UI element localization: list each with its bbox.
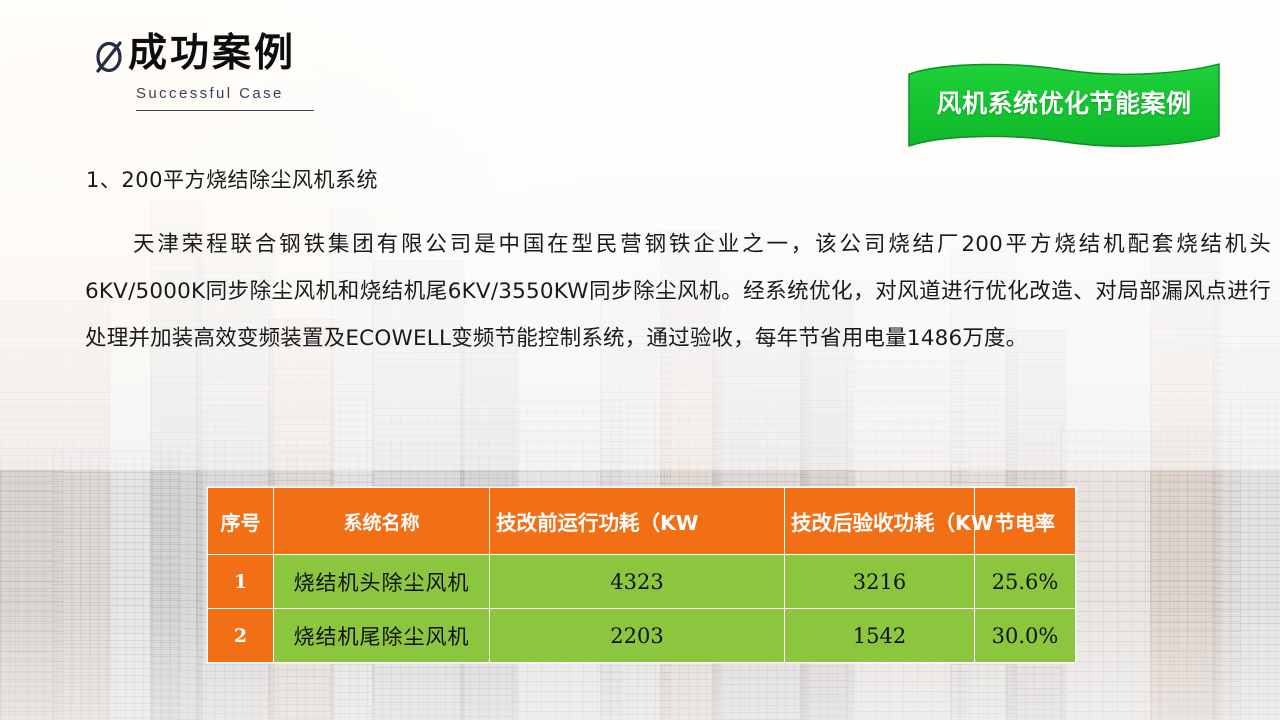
title-row: 成功案例 bbox=[92, 34, 512, 73]
slide-title-block: 成功案例 Successful Case bbox=[92, 34, 512, 111]
title-underline-rule bbox=[136, 110, 314, 111]
cell-system-name: 烧结机头除尘风机 bbox=[274, 555, 490, 609]
body-paragraph: 天津荣程联合钢铁集团有限公司是中国在型民营钢铁企业之一，该公司烧结厂200平方烧… bbox=[85, 221, 1271, 362]
cell-power-before: 4323 bbox=[490, 555, 785, 609]
column-header-system-name: 系统名称 bbox=[274, 488, 490, 555]
column-header-power-after: 技改后验收功耗（KW bbox=[785, 488, 975, 555]
page-title: 成功案例 bbox=[128, 34, 296, 73]
cell-index: 2 bbox=[208, 609, 274, 663]
cell-saving-rate: 25.6% bbox=[975, 555, 1076, 609]
cell-power-after: 3216 bbox=[785, 555, 975, 609]
section-heading: 1、200平方烧结除尘风机系统 bbox=[86, 168, 1206, 193]
body-copy: 1、200平方烧结除尘风机系统 天津荣程联合钢铁集团有限公司是中国在型民营钢铁企… bbox=[86, 168, 1206, 362]
column-header-index: 序号 bbox=[208, 488, 274, 555]
results-table: 序号 系统名称 技改前运行功耗（KW 技改后验收功耗（KW 节电率 1 烧结机头… bbox=[207, 487, 1076, 663]
cell-system-name: 烧结机尾除尘风机 bbox=[274, 609, 490, 663]
table-row: 1 烧结机头除尘风机 4323 3216 25.6% bbox=[208, 555, 1076, 609]
slashed-circle-icon bbox=[92, 37, 126, 75]
page-subtitle: Successful Case bbox=[136, 85, 512, 102]
cell-saving-rate: 30.0% bbox=[975, 609, 1076, 663]
table-head: 序号 系统名称 技改前运行功耗（KW 技改后验收功耗（KW 节电率 bbox=[208, 488, 1076, 555]
slide-root: 成功案例 Successful Case 风机系统优化节能案例 1、200平方烧… bbox=[0, 0, 1280, 720]
results-table-wrapper: 序号 系统名称 技改前运行功耗（KW 技改后验收功耗（KW 节电率 1 烧结机头… bbox=[207, 487, 1075, 663]
table-row: 2 烧结机尾除尘风机 2203 1542 30.0% bbox=[208, 609, 1076, 663]
cell-power-after: 1542 bbox=[785, 609, 975, 663]
cell-power-before: 2203 bbox=[490, 609, 785, 663]
section-ribbon-banner: 风机系统优化节能案例 bbox=[905, 58, 1223, 152]
column-header-power-before: 技改前运行功耗（KW bbox=[490, 488, 785, 555]
cell-index: 1 bbox=[208, 555, 274, 609]
table-body: 1 烧结机头除尘风机 4323 3216 25.6% 2 烧结机尾除尘风机 22… bbox=[208, 555, 1076, 663]
table-header-row: 序号 系统名称 技改前运行功耗（KW 技改后验收功耗（KW 节电率 bbox=[208, 488, 1076, 555]
